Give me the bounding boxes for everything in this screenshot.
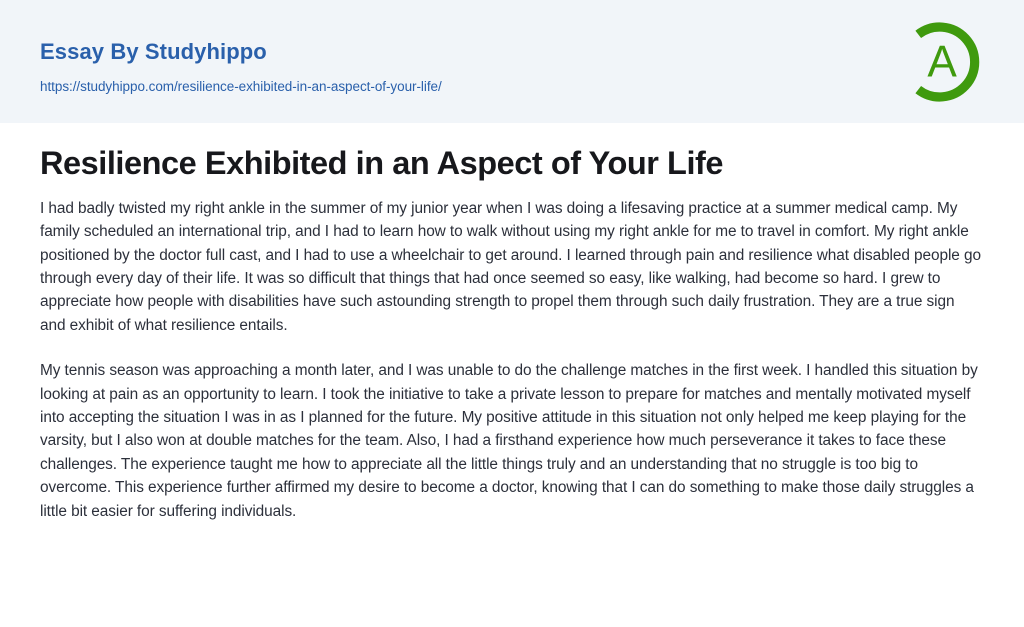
- article-container: Resilience Exhibited in an Aspect of You…: [0, 123, 1024, 523]
- studyhippo-a-circle-logo-icon: A: [898, 16, 990, 108]
- article-title: Resilience Exhibited in an Aspect of You…: [40, 145, 984, 183]
- article-paragraph: My tennis season was approaching a month…: [40, 359, 984, 523]
- header-brand-block: Essay By Studyhippo https://studyhippo.c…: [40, 38, 442, 94]
- source-url-link[interactable]: https://studyhippo.com/resilience-exhibi…: [40, 79, 442, 94]
- site-header: Essay By Studyhippo https://studyhippo.c…: [0, 0, 1024, 123]
- logo-letter: A: [927, 38, 957, 87]
- article-paragraph: I had badly twisted my right ankle in th…: [40, 197, 984, 337]
- brand-title: Essay By Studyhippo: [40, 38, 442, 66]
- article-body: I had badly twisted my right ankle in th…: [40, 197, 984, 523]
